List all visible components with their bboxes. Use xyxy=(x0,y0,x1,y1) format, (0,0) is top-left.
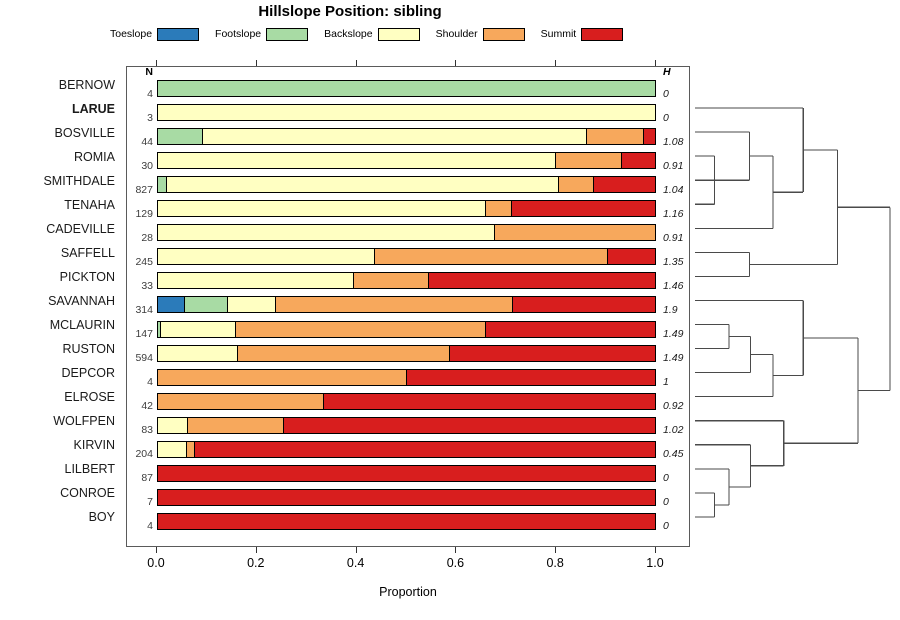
bar-row: 1291.16 xyxy=(127,197,689,221)
bar-row: 70 xyxy=(127,485,689,509)
bar-segment[interactable] xyxy=(375,249,608,264)
x-axis-tick xyxy=(356,547,357,553)
legend-item: Toeslope xyxy=(110,28,199,41)
bar-row: 3141.9 xyxy=(127,293,689,317)
bar-segment[interactable] xyxy=(486,322,655,337)
bar-segment[interactable] xyxy=(513,297,655,312)
y-axis-label: RUSTON xyxy=(0,337,121,361)
row-n-value: 30 xyxy=(125,160,153,172)
bar-row: 420.92 xyxy=(127,389,689,413)
y-axis-label: ELROSE xyxy=(0,385,121,409)
x-axis-tick-top xyxy=(356,60,357,66)
bar-segment[interactable] xyxy=(512,201,655,216)
bar-segment[interactable] xyxy=(203,129,587,144)
x-axis-tick-label: 0.0 xyxy=(131,556,181,570)
bar-row: 2451.35 xyxy=(127,245,689,269)
bar-segment[interactable] xyxy=(587,129,644,144)
stacked-bar[interactable] xyxy=(157,128,656,145)
row-n-value: 827 xyxy=(125,184,153,196)
x-axis-tick-top xyxy=(256,60,257,66)
x-axis-tick xyxy=(156,547,157,553)
bar-segment[interactable] xyxy=(486,201,513,216)
x-axis-tick-label: 0.2 xyxy=(231,556,281,570)
bar-row: 300.91 xyxy=(127,149,689,173)
stacked-bar[interactable] xyxy=(157,152,656,169)
stacked-bar[interactable] xyxy=(157,513,656,530)
bar-segment[interactable] xyxy=(407,370,656,385)
bar-segment[interactable] xyxy=(185,297,228,312)
chart-title: Hillslope Position: sibling xyxy=(0,3,700,20)
legend-label: Shoulder xyxy=(436,28,478,40)
stacked-bar[interactable] xyxy=(157,224,656,241)
legend-label: Toeslope xyxy=(110,28,152,40)
y-axis-label: WOLFPEN xyxy=(0,409,121,433)
x-axis-tick xyxy=(455,547,456,553)
stacked-bar[interactable] xyxy=(157,200,656,217)
stacked-bar[interactable] xyxy=(157,272,656,289)
bar-segment[interactable] xyxy=(187,442,194,457)
row-n-value: 594 xyxy=(125,352,153,364)
y-axis-label: KIRVIN xyxy=(0,433,121,457)
x-axis-tick xyxy=(256,547,257,553)
legend-swatch xyxy=(157,28,199,41)
bar-segment[interactable] xyxy=(608,249,655,264)
bar-row: 441.08 xyxy=(127,125,689,149)
row-n-value: 44 xyxy=(125,136,153,148)
bar-segment[interactable] xyxy=(158,201,486,216)
row-n-value: 87 xyxy=(125,472,153,484)
bar-segment[interactable] xyxy=(158,370,407,385)
bar-segment[interactable] xyxy=(158,490,655,505)
stacked-bar[interactable] xyxy=(157,465,656,482)
legend-label: Summit xyxy=(541,28,577,40)
stacked-bar[interactable] xyxy=(157,489,656,506)
stacked-bar[interactable] xyxy=(157,393,656,410)
stacked-bar[interactable] xyxy=(157,321,656,338)
bar-segment[interactable] xyxy=(158,153,556,168)
row-n-value: 83 xyxy=(125,424,153,436)
stacked-bar[interactable] xyxy=(157,441,656,458)
x-axis-tick xyxy=(655,547,656,553)
y-axis-labels: BERNOWLARUEBOSVILLEROMIASMITHDALETENAHAC… xyxy=(0,66,121,547)
legend-item: Summit xyxy=(541,28,624,41)
stacked-bar[interactable] xyxy=(157,345,656,362)
legend-label: Backslope xyxy=(324,28,372,40)
x-axis-tick-top xyxy=(655,60,656,66)
y-axis-label: ROMIA xyxy=(0,145,121,169)
x-axis-tick-top xyxy=(555,60,556,66)
bar-segment[interactable] xyxy=(594,177,655,192)
bar-row: 2040.45 xyxy=(127,437,689,461)
bar-row: 41 xyxy=(127,365,689,389)
legend-label: Footslope xyxy=(215,28,261,40)
legend-swatch xyxy=(266,28,308,41)
legend-item: Footslope xyxy=(215,28,308,41)
x-axis-tick-top xyxy=(455,60,456,66)
bar-row: 5941.49 xyxy=(127,341,689,365)
bar-segment[interactable] xyxy=(158,442,187,457)
stacked-bar[interactable] xyxy=(157,176,656,193)
x-axis-title: Proportion xyxy=(126,585,690,599)
column-header-n: N xyxy=(125,66,153,78)
bar-row: 40 xyxy=(127,509,689,533)
y-axis-label: BERNOW xyxy=(0,73,121,97)
y-axis-label: CADEVILLE xyxy=(0,217,121,241)
dendrogram-svg xyxy=(690,60,900,560)
bar-row: 331.46 xyxy=(127,269,689,293)
row-n-value: 204 xyxy=(125,448,153,460)
bar-segment[interactable] xyxy=(188,418,284,433)
bar-segment[interactable] xyxy=(195,442,655,457)
bar-row: 8271.04 xyxy=(127,173,689,197)
bar-segment[interactable] xyxy=(158,81,655,96)
bar-segment[interactable] xyxy=(236,322,486,337)
bar-segment[interactable] xyxy=(158,249,375,264)
legend: ToeslopeFootslopeBackslopeShoulderSummit xyxy=(110,25,670,43)
bar-segment[interactable] xyxy=(276,297,514,312)
row-n-value: 129 xyxy=(125,208,153,220)
x-axis-tick-label: 1.0 xyxy=(630,556,680,570)
y-axis-label: SMITHDALE xyxy=(0,169,121,193)
bar-row: 40 xyxy=(127,77,689,101)
y-axis-label: CONROE xyxy=(0,481,121,505)
bar-segment[interactable] xyxy=(158,466,655,481)
stacked-bar[interactable] xyxy=(157,104,656,121)
bar-segment[interactable] xyxy=(429,273,655,288)
y-axis-label: MCLAURIN xyxy=(0,313,121,337)
bar-segment[interactable] xyxy=(284,418,655,433)
x-axis-tick-label: 0.6 xyxy=(430,556,480,570)
row-n-value: 7 xyxy=(125,496,153,508)
row-n-value: 4 xyxy=(125,88,153,100)
bar-row: 831.02 xyxy=(127,413,689,437)
bar-row: 870 xyxy=(127,461,689,485)
row-n-value: 3 xyxy=(125,112,153,124)
legend-swatch xyxy=(581,28,623,41)
y-axis-label: DEPCOR xyxy=(0,361,121,385)
y-axis-label: PICKTON xyxy=(0,265,121,289)
bar-row: 280.91 xyxy=(127,221,689,245)
dendrogram xyxy=(690,60,900,560)
row-n-value: 28 xyxy=(125,232,153,244)
bar-segment[interactable] xyxy=(158,225,495,240)
bar-segment[interactable] xyxy=(238,346,450,361)
stacked-bar[interactable] xyxy=(157,296,656,313)
x-axis-tick-top xyxy=(156,60,157,66)
bar-segment[interactable] xyxy=(167,177,559,192)
row-n-value: 147 xyxy=(125,328,153,340)
bar-segment[interactable] xyxy=(354,273,430,288)
stacked-bar[interactable] xyxy=(157,417,656,434)
bar-segment[interactable] xyxy=(228,297,276,312)
row-n-value: 42 xyxy=(125,400,153,412)
bar-segment[interactable] xyxy=(644,129,655,144)
stacked-bar-panel: 4030441.08300.918271.041291.16280.912451… xyxy=(126,66,690,547)
bar-segment[interactable] xyxy=(556,153,622,168)
bar-row: 1471.49 xyxy=(127,317,689,341)
stacked-bar[interactable] xyxy=(157,80,656,97)
bar-segment[interactable] xyxy=(158,418,188,433)
y-axis-label: SAVANNAH xyxy=(0,289,121,313)
bar-segment[interactable] xyxy=(495,225,655,240)
x-axis-tick-label: 0.4 xyxy=(331,556,381,570)
bar-segment[interactable] xyxy=(324,394,655,409)
row-n-value: 245 xyxy=(125,256,153,268)
y-axis-label: BOY xyxy=(0,505,121,529)
bar-segment[interactable] xyxy=(559,177,594,192)
bar-segment[interactable] xyxy=(158,394,324,409)
bar-segment[interactable] xyxy=(158,514,655,529)
y-axis-label: SAFFELL xyxy=(0,241,121,265)
x-axis-tick-label: 0.8 xyxy=(530,556,580,570)
bar-row: 30 xyxy=(127,101,689,125)
legend-swatch xyxy=(483,28,525,41)
y-axis-label: TENAHA xyxy=(0,193,121,217)
stacked-bar[interactable] xyxy=(157,248,656,265)
legend-item: Backslope xyxy=(324,28,419,41)
bar-segment[interactable] xyxy=(161,322,236,337)
row-n-value: 33 xyxy=(125,280,153,292)
bar-segment[interactable] xyxy=(622,153,655,168)
bar-segment[interactable] xyxy=(158,346,238,361)
row-n-value: 314 xyxy=(125,304,153,316)
stacked-bar[interactable] xyxy=(157,369,656,386)
bar-segment[interactable] xyxy=(158,105,655,120)
x-axis-tick xyxy=(555,547,556,553)
bar-segment[interactable] xyxy=(450,346,655,361)
y-axis-label: LILBERT xyxy=(0,457,121,481)
bar-segment[interactable] xyxy=(158,297,185,312)
bar-segment[interactable] xyxy=(158,129,203,144)
bar-segment[interactable] xyxy=(158,177,167,192)
row-n-value: 4 xyxy=(125,376,153,388)
legend-item: Shoulder xyxy=(436,28,525,41)
bar-rows: 4030441.08300.918271.041291.16280.912451… xyxy=(127,67,689,546)
y-axis-label: LARUE xyxy=(0,97,121,121)
legend-swatch xyxy=(378,28,420,41)
bar-segment[interactable] xyxy=(158,273,354,288)
row-n-value: 4 xyxy=(125,520,153,532)
y-axis-label: BOSVILLE xyxy=(0,121,121,145)
